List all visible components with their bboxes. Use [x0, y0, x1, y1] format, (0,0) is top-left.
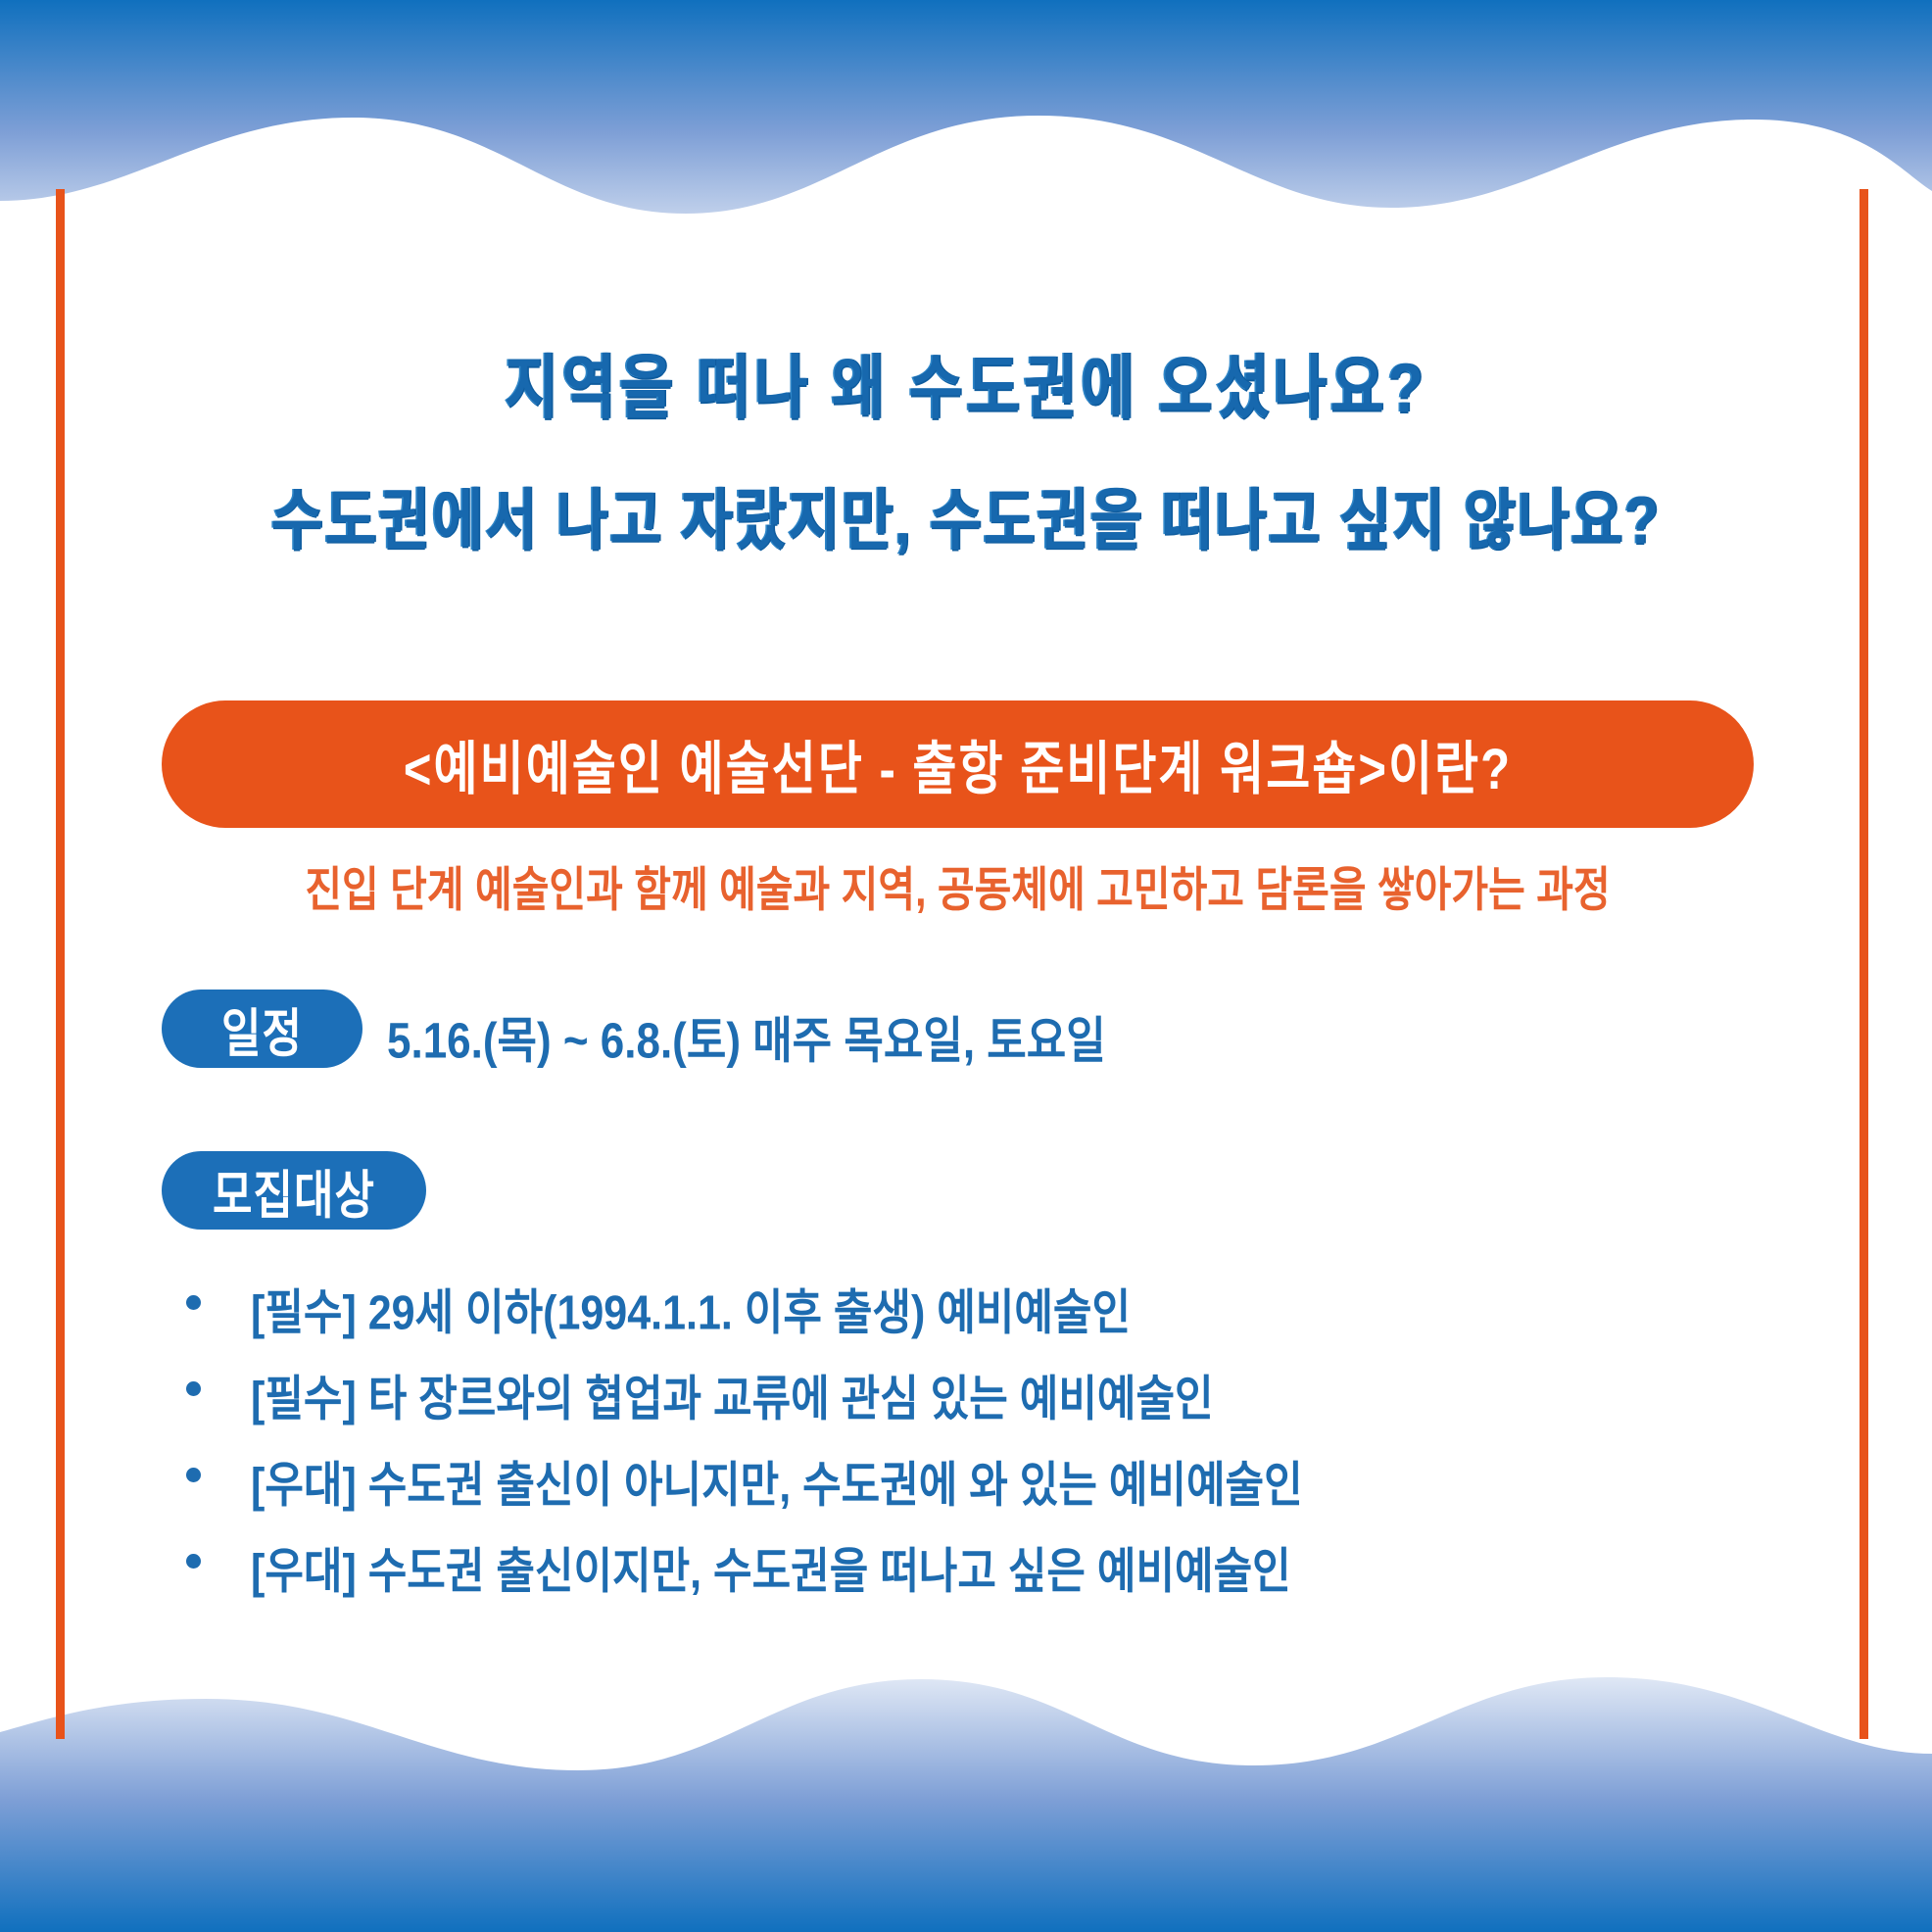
headline-question-2: 수도권에서 나고 자랐지만, 수도권을 떠나고 싶지 않나요? [0, 480, 1932, 559]
list-item: [필수] 29세 이하(1994.1.1. 이후 출생) 예비예술인 [186, 1274, 1754, 1360]
poster-canvas: 지역을 떠나 왜 수도권에 오셨나요? 수도권에서 나고 자랐지만, 수도권을 … [0, 0, 1932, 1932]
bullet-dot-icon [186, 1554, 201, 1569]
program-title-text: <예비예술인 예술선단 - 출항 준비단계 워크숍>이란? [404, 722, 1512, 805]
list-item-label: [필수] 29세 이하(1994.1.1. 이후 출생) 예비예술인 [251, 1274, 1131, 1343]
list-item-label: [우대] 수도권 출신이지만, 수도권을 떠나고 싶은 예비예술인 [251, 1532, 1291, 1602]
schedule-label-text: 일정 [221, 991, 303, 1067]
bullet-dot-icon [186, 1381, 201, 1396]
bullet-dot-icon [186, 1295, 201, 1310]
schedule-value-text: 5.16.(목) ~ 6.8.(토) 매주 목요일, 토요일 [387, 1000, 1106, 1073]
list-item-label: [우대] 수도권 출신이 아니지만, 수도권에 와 있는 예비예술인 [251, 1446, 1303, 1516]
schedule-label-pill: 일정 [162, 990, 362, 1068]
headline-1-text: 지역을 떠나 왜 수도권에 오셨나요? [0, 339, 1932, 440]
headline-question-1: 지역을 떠나 왜 수도권에 오셨나요? [0, 348, 1932, 430]
program-title-pill: <예비예술인 예술선단 - 출항 준비단계 워크숍>이란? [162, 700, 1754, 828]
poster-content: 지역을 떠나 왜 수도권에 오셨나요? 수도권에서 나고 자랐지만, 수도권을 … [0, 0, 1932, 1932]
target-label-text: 모집대상 [213, 1153, 375, 1229]
list-item: [필수] 타 장르와의 협업과 교류에 관심 있는 예비예술인 [186, 1360, 1754, 1446]
bullet-dot-icon [186, 1468, 201, 1482]
target-label-pill: 모집대상 [162, 1151, 426, 1230]
program-subtitle: 진입 단계 예술인과 함께 예술과 지역, 공동체에 고민하고 담론을 쌓아가는… [162, 850, 1754, 920]
list-item: [우대] 수도권 출신이지만, 수도권을 떠나고 싶은 예비예술인 [186, 1532, 1754, 1618]
target-bullet-list: [필수] 29세 이하(1994.1.1. 이후 출생) 예비예술인 [필수] … [186, 1274, 1754, 1618]
list-item-label: [필수] 타 장르와의 협업과 교류에 관심 있는 예비예술인 [251, 1360, 1214, 1429]
list-item: [우대] 수도권 출신이 아니지만, 수도권에 와 있는 예비예술인 [186, 1446, 1754, 1532]
headline-2-text: 수도권에서 나고 자랐지만, 수도권을 떠나고 싶지 않나요? [0, 471, 1932, 568]
